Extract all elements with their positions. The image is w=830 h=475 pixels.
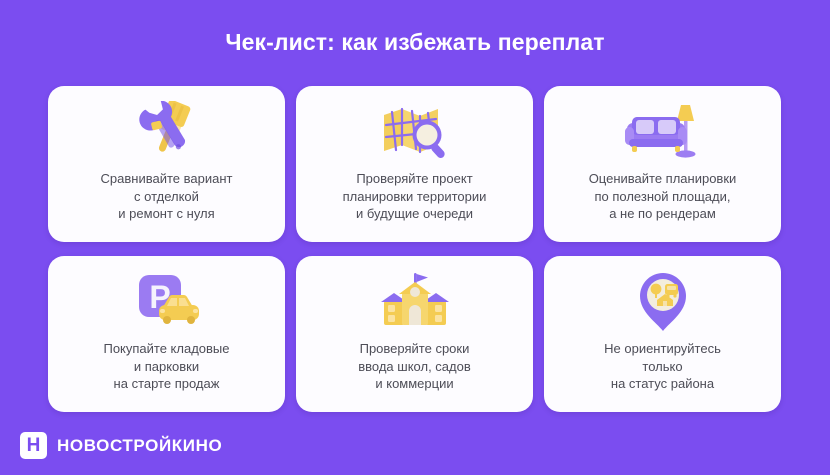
checklist-card-1: Сравнивайте вариант с отделкой и ремонт … [48,86,285,242]
checklist-poster: Чек-лист: как избежать переплат [0,0,830,475]
school-building-icon [296,270,533,334]
checklist-card-text: Сравнивайте вариант с отделкой и ремонт … [89,170,245,223]
parking-car-icon: P [48,270,285,334]
logo-mark: Н [20,432,47,459]
footer-logo[interactable]: Н НОВОСТРОЙКИНО [20,432,222,459]
checklist-card-text: Не ориентируйтесь только на статус район… [592,340,733,393]
page-title: Чек-лист: как избежать переплат [0,30,830,55]
checklist-card-4: P Покупайте кладовые и парковки на старт… [48,256,285,412]
checklist-card-2: Проверяйте проект планировки территории … [296,86,533,242]
checklist-card-text: Проверяйте проект планировки территории … [331,170,499,223]
map-pin-district-icon [544,270,781,334]
logo-wordmark: НОВОСТРОЙКИНО [57,436,222,456]
checklist-card-3: Оценивайте планировки по полезной площад… [544,86,781,242]
wrench-paintbrush-icon [48,100,285,164]
map-magnifier-icon [296,100,533,164]
checklist-card-text: Проверяйте сроки ввода школ, садов и ком… [346,340,483,393]
checklist-card-6: Не ориентируйтесь только на статус район… [544,256,781,412]
checklist-card-5: Проверяйте сроки ввода школ, садов и ком… [296,256,533,412]
checklist-grid: Сравнивайте вариант с отделкой и ремонт … [48,86,784,412]
checklist-card-text: Покупайте кладовые и парковки на старте … [91,340,241,393]
sofa-lamp-icon [544,100,781,164]
checklist-card-text: Оценивайте планировки по полезной площад… [577,170,749,223]
